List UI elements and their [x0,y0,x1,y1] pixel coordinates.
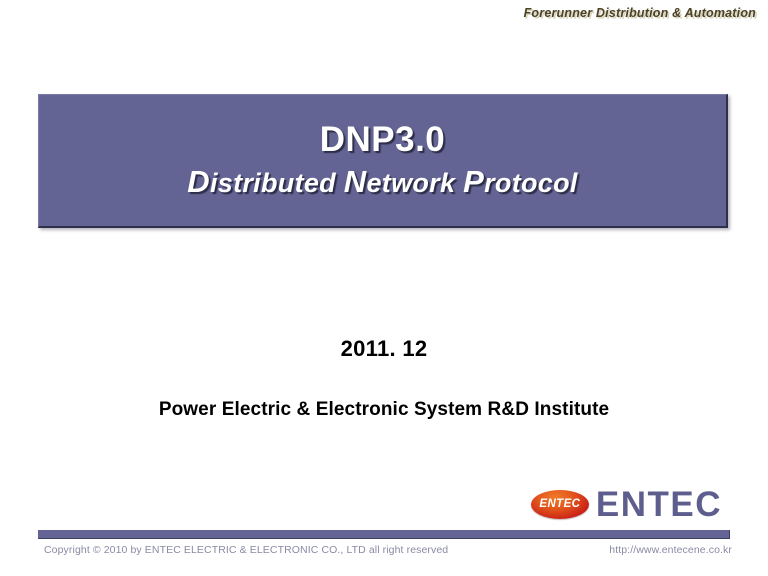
page-subtitle: Distributed Network Protocol [187,164,577,200]
title-box: DNP3.0 Distributed Network Protocol [38,94,728,228]
footer: Copyright © 2010 by ENTEC ELECTRIC & ELE… [44,544,732,556]
entec-oval-label: ENTEC [539,499,580,511]
subtitle-rest-distributed: istributed [210,168,344,198]
entec-logo: ENTEC ENTEC [531,487,722,522]
subtitle-rest-protocol: rotocol [484,168,578,198]
top-banner: Forerunner Distribution & Automation [0,0,768,26]
slide-canvas: Forerunner Distribution & Automation DNP… [0,0,768,576]
subtitle-cap-p: P [463,164,484,199]
footer-divider [38,530,730,539]
institute-name: Power Electric & Electronic System R&D I… [0,399,768,421]
banner-tagline: Forerunner Distribution & Automation [524,6,756,20]
presentation-date: 2011. 12 [0,336,768,362]
footer-copyright: Copyright © 2010 by ENTEC ELECTRIC & ELE… [44,544,448,556]
subtitle-rest-network: etwork [366,168,463,198]
entec-oval-icon: ENTEC [531,490,589,519]
subtitle-cap-d: D [187,164,210,199]
page-title: DNP3.0 [320,121,446,160]
subtitle-cap-n: N [344,164,367,199]
footer-url[interactable]: http://www.entecene.co.kr [609,544,732,556]
entec-wordmark: ENTEC [596,487,722,522]
